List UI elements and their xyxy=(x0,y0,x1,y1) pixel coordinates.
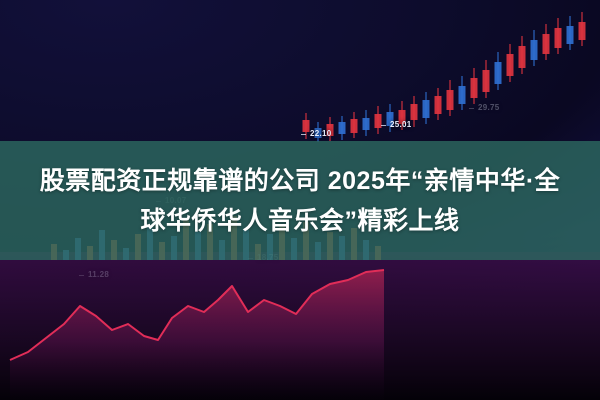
promo-banner-image: 22.1025.0129.7510.0718.7511.28 股票配资正规靠谱的… xyxy=(0,0,600,400)
price-label: 11.28 xyxy=(88,270,109,279)
price-label: 29.75 xyxy=(478,103,500,112)
candlestick-group xyxy=(303,12,586,142)
page-title: 股票配资正规靠谱的公司 2025年“亲情中华·全 球华侨华人音乐会”精彩上线 xyxy=(30,161,570,241)
price-label: 25.01 xyxy=(390,120,412,129)
title-line-1: 股票配资正规靠谱的公司 2025年“亲情中华·全 xyxy=(30,161,570,201)
title-banner: 股票配资正规靠谱的公司 2025年“亲情中华·全 球华侨华人音乐会”精彩上线 xyxy=(0,141,600,260)
title-line-2: 球华侨华人音乐会”精彩上线 xyxy=(30,201,570,241)
price-label: 22.10 xyxy=(310,129,332,138)
